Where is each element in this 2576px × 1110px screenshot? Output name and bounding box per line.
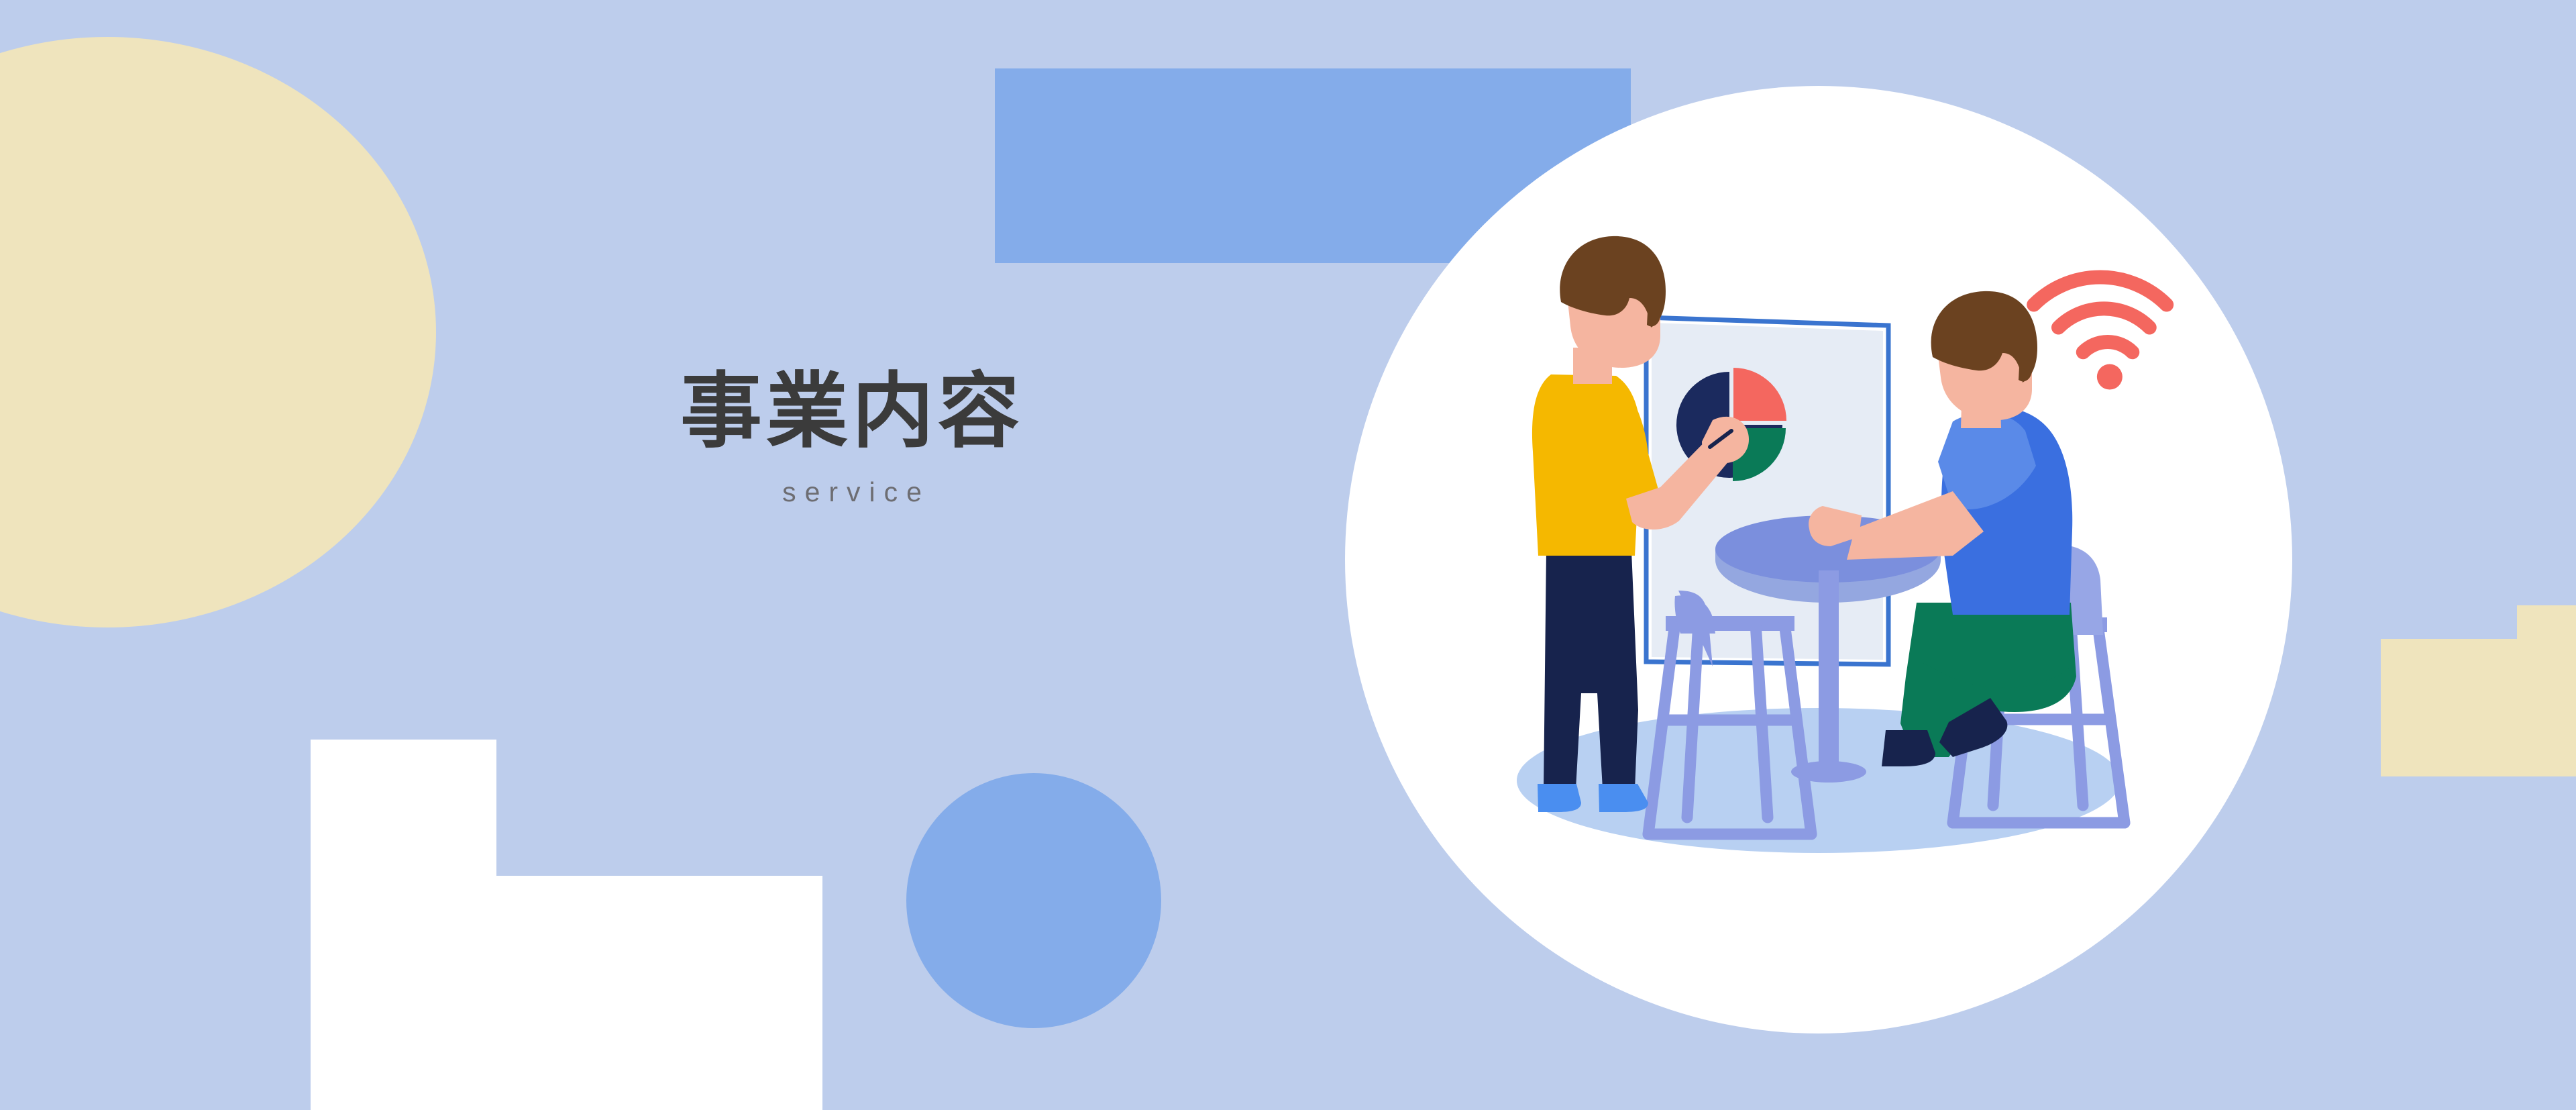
table-foot (1791, 761, 1866, 783)
page-subtitle: service (470, 476, 1234, 508)
white-step-shape-horizontal (311, 876, 822, 1110)
business-meeting-illustration (1345, 86, 2292, 1033)
page-heading: 事業内容 service (470, 366, 1234, 508)
seated-shoe-back (1882, 730, 1935, 766)
table-stem (1819, 570, 1839, 769)
page-title: 事業内容 (470, 366, 1234, 458)
presenter-shoe-back (1538, 784, 1581, 812)
cream-step-shape-horizontal (2381, 639, 2576, 776)
blue-circle-shape (906, 773, 1161, 1028)
hero-banner: 事業内容 service (0, 0, 2576, 1110)
